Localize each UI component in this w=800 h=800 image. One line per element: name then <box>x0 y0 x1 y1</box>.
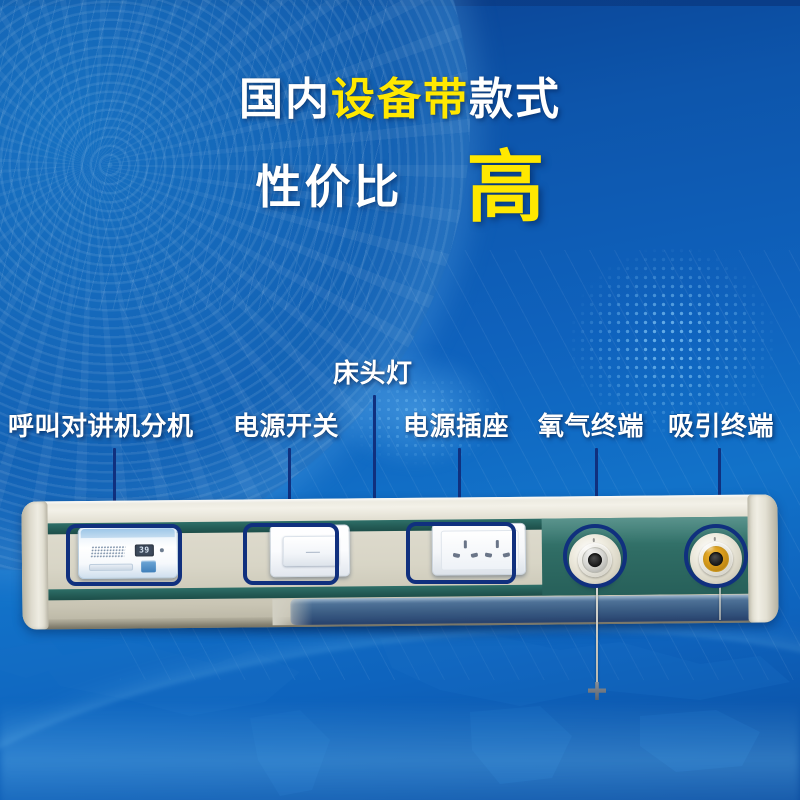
intercom-card-slot <box>89 564 133 571</box>
panel-end-cap-right <box>747 494 778 622</box>
oxygen-key-tick <box>593 538 595 542</box>
headline-block: 国内设备带款式 性价比 高 <box>0 78 800 122</box>
callout-label-intercom: 呼叫对讲机分机 <box>8 413 194 439</box>
intercom-call-button[interactable] <box>141 560 156 572</box>
oxygen-port-bore <box>588 553 602 567</box>
suction-port-bore <box>709 552 723 566</box>
socket-faceplate <box>441 530 519 571</box>
callout-label-bed-lamp: 床头灯 <box>333 360 413 386</box>
headline-part-3: 款式 <box>469 75 561 124</box>
suction-highlight <box>704 545 714 551</box>
power-socket-unit[interactable] <box>432 523 526 576</box>
switch-indicator-line <box>306 552 320 553</box>
intercom-mount-screw <box>126 583 129 586</box>
headline-part-2: 设备带 <box>331 75 469 124</box>
bed-lamp-power-switch[interactable] <box>270 524 350 577</box>
socket-pin-icon <box>482 540 514 564</box>
switch-rocker-button[interactable] <box>283 536 339 567</box>
headline-line-2: 性价比 <box>255 164 402 210</box>
oxygen-highlight <box>583 546 593 552</box>
panel-rail-blend <box>272 599 312 625</box>
suction-outlet-terminal[interactable] <box>690 533 742 585</box>
nurse-call-intercom-unit[interactable]: 39 <box>78 526 178 579</box>
headline-line-1: 国内设备带款式 <box>0 78 800 122</box>
bed-head-unit-panel: 39 <box>21 494 778 629</box>
promo-banner: 国内设备带款式 性价比 高 呼叫对讲机分机 电源开关 床头灯 电源插座 氧气终端… <box>0 0 800 800</box>
intercom-top-trim <box>81 528 175 538</box>
headline-emphasis: 高 <box>466 148 544 226</box>
led-indicator-icon <box>160 548 164 552</box>
socket-pin-icon <box>450 540 482 564</box>
panel-end-cap-left <box>21 501 48 629</box>
intercom-display: 39 <box>135 544 154 556</box>
headline-part-1: 国内 <box>239 75 331 124</box>
bottom-glow <box>0 700 800 800</box>
panel-body: 39 <box>21 494 778 629</box>
suction-cord-icon <box>719 586 721 620</box>
callout-label-oxygen-outlet: 氧气终端 <box>538 413 644 439</box>
callout-label-power-socket: 电源插座 <box>403 413 509 439</box>
switch-mount-screw <box>308 581 311 584</box>
callout-label-power-switch: 电源开关 <box>233 413 339 439</box>
suction-key-tick <box>714 537 716 541</box>
callout-label-suction-outlet: 吸引终端 <box>668 413 774 439</box>
oxygen-outlet-terminal[interactable] <box>569 534 621 586</box>
panel-lower-rail <box>290 595 752 625</box>
speaker-grille-icon <box>90 546 126 558</box>
headline-row-2: 性价比 高 <box>0 148 800 226</box>
pull-cord-icon[interactable] <box>596 586 598 686</box>
